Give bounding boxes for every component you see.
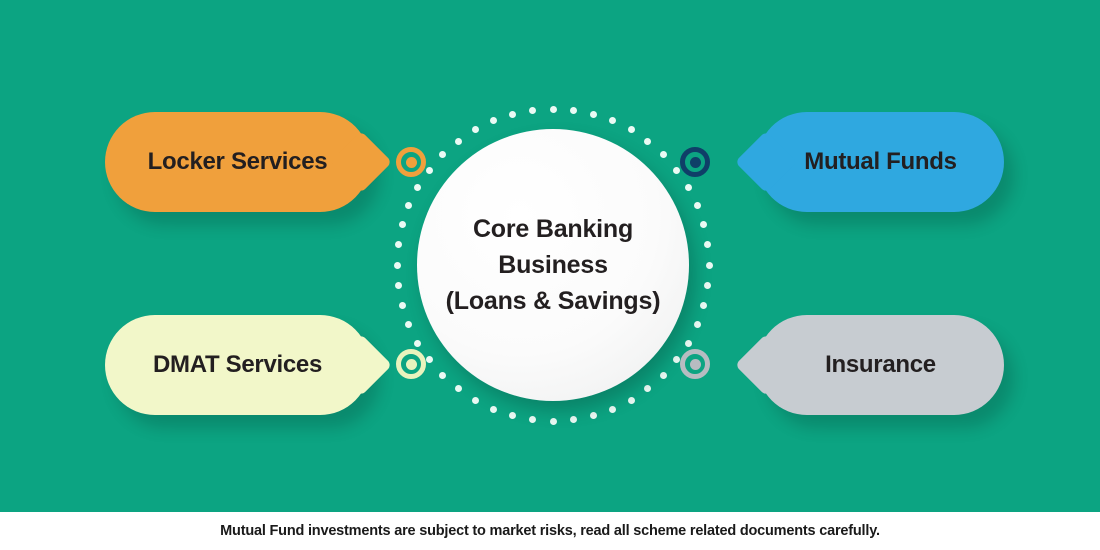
orbit-dot — [426, 167, 433, 174]
orbit-dot — [490, 406, 497, 413]
orbit-dot — [455, 138, 462, 145]
orbit-dot — [439, 151, 446, 158]
orbit-dot — [490, 117, 497, 124]
orbit-dot — [426, 356, 433, 363]
orbit-dot — [529, 416, 536, 423]
orbit-dot — [455, 385, 462, 392]
branch-label-insurance: Insurance — [825, 351, 936, 379]
callout-tail — [735, 131, 797, 193]
orbit-dot — [704, 282, 711, 289]
orbit-dot — [529, 107, 536, 114]
diagram-canvas: Core Banking Business (Loans & Savings) … — [0, 0, 1100, 550]
orbit-dot — [628, 126, 635, 133]
core-hub-circle: Core Banking Business (Loans & Savings) — [417, 129, 689, 401]
orbit-dot — [414, 184, 421, 191]
orbit-dot — [660, 151, 667, 158]
disclaimer-text: Mutual Fund investments are subject to m… — [220, 523, 880, 539]
orbit-dot — [660, 372, 667, 379]
target-ring-center-dot — [690, 359, 701, 370]
orbit-dot — [472, 397, 479, 404]
orbit-dot — [414, 340, 421, 347]
orbit-dot — [399, 221, 406, 228]
orbit-dot — [706, 262, 713, 269]
orbit-dot — [685, 184, 692, 191]
branch-insurance[interactable]: Insurance — [757, 315, 1004, 415]
target-ring-icon-dmat-services — [396, 349, 426, 379]
orbit-dot — [509, 412, 516, 419]
core-hub-line-1: Core Banking — [438, 211, 668, 247]
orbit-dot — [628, 397, 635, 404]
orbit-dot — [405, 321, 412, 328]
disclaimer-bar: Mutual Fund investments are subject to m… — [0, 512, 1100, 550]
orbit-dot — [694, 321, 701, 328]
target-ring-center-dot — [690, 157, 701, 168]
core-hub-line-3: (Loans & Savings) — [438, 283, 668, 319]
orbit-dot — [685, 340, 692, 347]
orbit-dot — [472, 126, 479, 133]
orbit-dot — [644, 385, 651, 392]
orbit-dot — [590, 111, 597, 118]
branch-label-dmat-services: DMAT Services — [153, 351, 322, 379]
orbit-dot — [399, 302, 406, 309]
branch-mutual-funds[interactable]: Mutual Funds — [757, 112, 1004, 212]
target-ring-center-dot — [406, 359, 417, 370]
orbit-dot — [700, 221, 707, 228]
orbit-dot — [570, 107, 577, 114]
core-hub-label: Core Banking Business (Loans & Savings) — [438, 211, 668, 320]
target-ring-icon-locker-services — [396, 147, 426, 177]
orbit-dot — [694, 202, 701, 209]
orbit-dot — [590, 412, 597, 419]
branch-label-mutual-funds: Mutual Funds — [804, 148, 956, 176]
branch-label-locker-services: Locker Services — [148, 148, 328, 176]
orbit-dot — [609, 117, 616, 124]
orbit-dot — [550, 418, 557, 425]
orbit-dot — [395, 241, 402, 248]
target-ring-icon-mutual-funds — [680, 147, 710, 177]
orbit-dot — [509, 111, 516, 118]
callout-tail — [330, 334, 392, 396]
target-ring-icon-insurance — [680, 349, 710, 379]
orbit-dot — [609, 406, 616, 413]
orbit-dot — [395, 282, 402, 289]
orbit-dot — [405, 202, 412, 209]
branch-locker-services[interactable]: Locker Services — [105, 112, 370, 212]
target-ring-center-dot — [406, 157, 417, 168]
callout-tail — [330, 131, 392, 193]
orbit-dot — [700, 302, 707, 309]
orbit-dot — [439, 372, 446, 379]
orbit-dot — [644, 138, 651, 145]
orbit-dot — [704, 241, 711, 248]
callout-tail — [735, 334, 797, 396]
branch-dmat-services[interactable]: DMAT Services — [105, 315, 370, 415]
orbit-dot — [394, 262, 401, 269]
core-hub-line-2: Business — [438, 247, 668, 283]
orbit-dot — [673, 167, 680, 174]
orbit-dot — [550, 106, 557, 113]
orbit-dot — [570, 416, 577, 423]
